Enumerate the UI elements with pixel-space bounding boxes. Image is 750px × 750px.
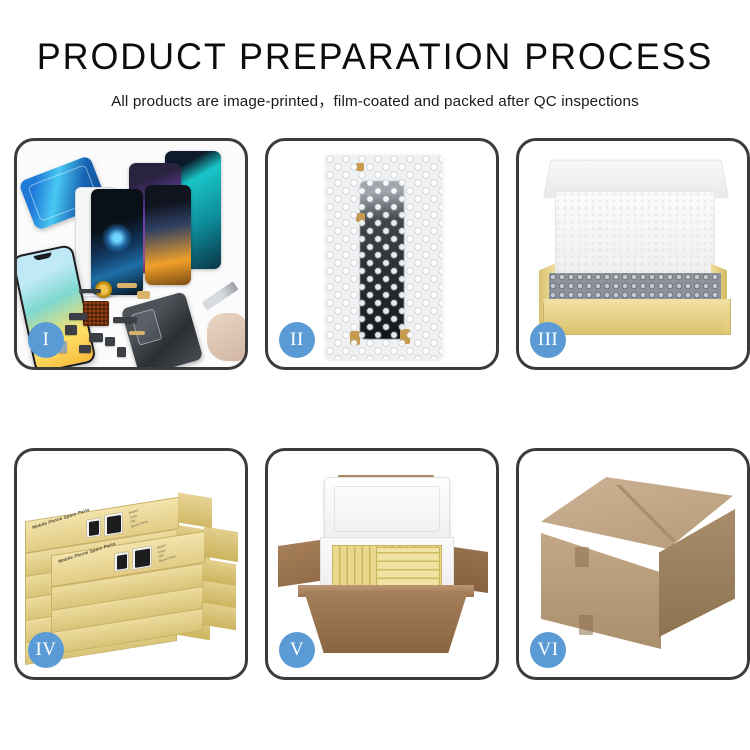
step-badge-5: V [279,632,315,668]
kraft-box-front [543,299,729,333]
product-preparation-infographic: PRODUCT PREPARATION PROCESS All products… [0,0,750,750]
spare-part-speaker [105,337,115,346]
spare-part-button [117,347,126,357]
spare-part-bracket [69,313,87,320]
step-badge-6: VI [530,632,566,668]
box-label-swatch [104,512,123,537]
spare-part-strip [79,289,101,293]
spare-part-connector [79,345,91,353]
phone-notch-icon [34,252,53,261]
box-label-swatch [114,551,129,572]
white-foam-pad [555,191,715,275]
bubble-texture [326,155,442,359]
technician-hand [207,313,247,361]
step-badge-3: III [530,322,566,358]
header: PRODUCT PREPARATION PROCESS All products… [0,0,750,111]
box-label-swatch [132,545,152,570]
box-label-swatch [86,517,101,538]
step-badge-2: II [279,322,315,358]
process-step-2: II [265,138,499,370]
process-step-1: I [14,138,248,370]
process-step-5: V [265,448,499,680]
flex-cable-part [137,291,150,299]
flex-cable-part [117,283,137,288]
box-spec-text: Model: Color: Qty: Spare Parts [129,506,149,529]
tape-mark [575,547,589,567]
spare-part-strip [113,317,137,323]
process-step-3: III [516,138,750,370]
bubble-wrap-bag [326,155,442,359]
step-badge-4: IV [28,632,64,668]
spare-part-camera [89,333,103,342]
process-step-4: Mobile Phone Spare Parts Model: Color: Q… [14,448,248,680]
step-badge-1: I [28,322,64,358]
phone-screen-orange [145,185,191,285]
carton-left-face [541,533,661,649]
grey-bubble-wrap-layer [549,273,721,301]
page-title: PRODUCT PREPARATION PROCESS [11,38,739,75]
box-spec-text: Model: Color: Qty: Spare Parts [157,541,177,564]
screwdriver-icon [201,281,238,311]
carton-front-panel [304,591,468,653]
process-step-6: VI [516,448,750,680]
tape-mark [579,615,593,635]
spare-part-bracket [65,325,77,335]
page-subtitle: All products are image-printed，film-coat… [0,89,750,111]
flex-cable-part [129,331,145,335]
foam-cooler-lid [324,477,450,541]
process-step-grid: I II [14,138,736,680]
phone-screen-black [91,189,143,295]
yellow-boxes-stack [376,547,440,587]
